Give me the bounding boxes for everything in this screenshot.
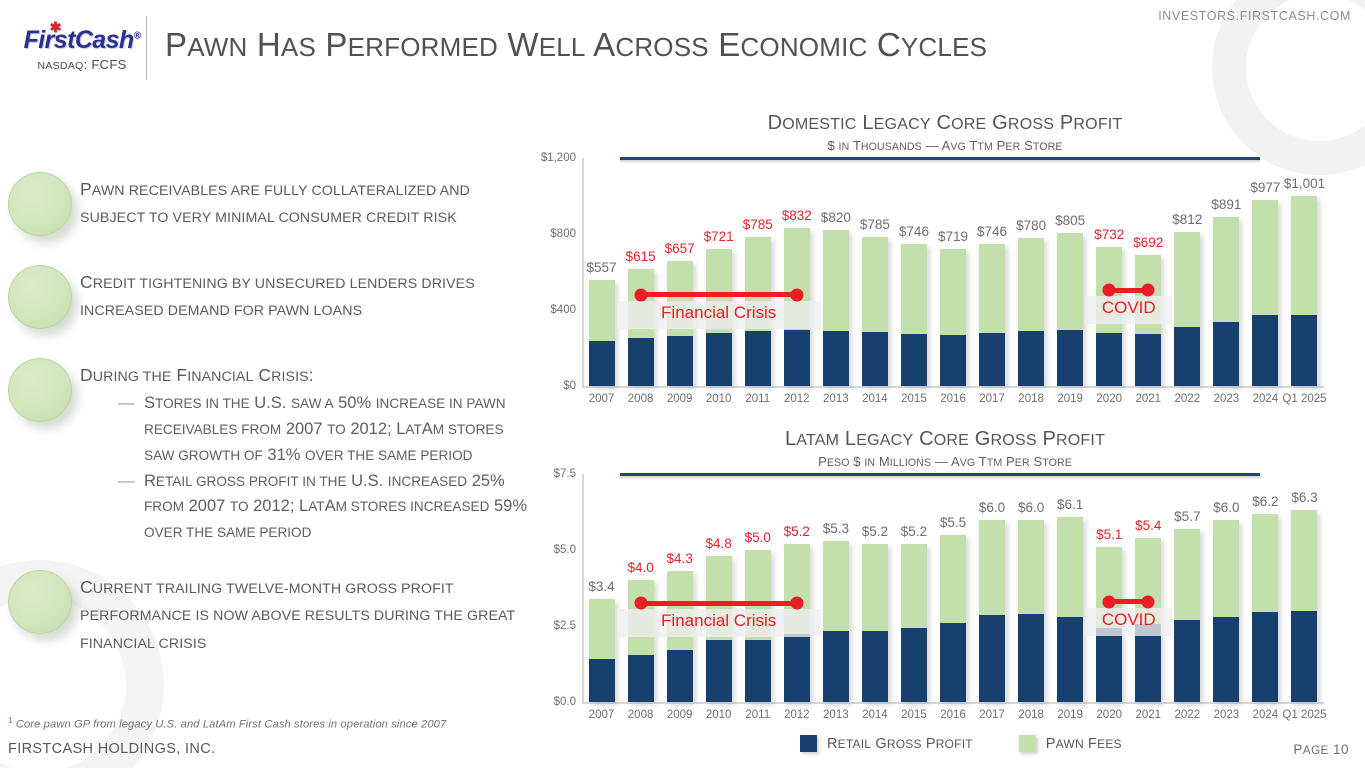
bar-segment-pawn-fees (823, 230, 849, 330)
bar-2017 (979, 520, 1005, 702)
plot-area: $0$400$800$1,200$5572007$6152008$6572009… (530, 158, 1360, 412)
bar-segment-retail-gross-profit (1252, 315, 1278, 386)
investor-url: INVESTORS.FIRSTCASH.COM (1158, 9, 1351, 23)
legend-label-pawn-fees: PAWN FEES (1046, 736, 1122, 752)
bar-segment-pawn-fees (979, 520, 1005, 616)
footnote-text: Core pawn GP from legacy U.S. and LatAm … (16, 719, 447, 731)
bar-value-label: $557 (586, 260, 616, 275)
annotation-line (641, 601, 797, 606)
bar-value-label: $746 (899, 224, 929, 239)
bar-segment-retail-gross-profit (1174, 327, 1200, 386)
bar-2016 (940, 535, 966, 702)
bullet-disc-wrap (0, 558, 80, 656)
key-points-list: PAWN RECEIVABLES ARE FULLY COLLATERALIZE… (0, 160, 530, 678)
bar-segment-retail-gross-profit (589, 341, 615, 386)
bar-segment-retail-gross-profit (823, 631, 849, 702)
dash-icon: — (118, 469, 144, 546)
bar-segment-pawn-fees (901, 244, 927, 334)
bar-2023 (1213, 520, 1239, 702)
bar-value-label: $4.8 (706, 536, 732, 551)
annotation-endpoint-dot (1142, 595, 1155, 608)
green-disc-icon (8, 358, 72, 422)
bar-value-label: $891 (1211, 197, 1241, 212)
bar-segment-retail-gross-profit (784, 634, 810, 701)
bar-value-label: $5.2 (784, 524, 810, 539)
bar-segment-retail-gross-profit (940, 335, 966, 386)
annotation-label: COVID (1102, 298, 1156, 318)
bar-segment-retail-gross-profit (940, 623, 966, 702)
y-axis-tick: $1,200 (456, 152, 576, 164)
green-disc-icon (8, 570, 72, 634)
slide-header: INVESTORS.FIRSTCASH.COM ✱FirstCash® NASD… (0, 0, 1365, 92)
bar-2014 (862, 237, 888, 386)
bar-value-label: $5.1 (1096, 527, 1122, 542)
bar-2019 (1057, 233, 1083, 386)
y-axis-tick: $800 (456, 228, 576, 240)
chart-latam-legacy: LATAM LEGACY CORE GROSS PROFITPESO $ IN … (530, 428, 1360, 720)
annotation-label: Financial Crisis (661, 303, 776, 323)
bar-segment-retail-gross-profit (745, 331, 771, 386)
bar-2018 (1018, 520, 1044, 702)
bar-segment-retail-gross-profit (862, 631, 888, 702)
annotation-endpoint-dot (634, 597, 647, 610)
bar-segment-retail-gross-profit (745, 640, 771, 702)
bar-segment-retail-gross-profit (862, 332, 888, 386)
bullet-item-2: CREDIT TIGHTENING BY UNSECURED LENDERS D… (0, 253, 530, 324)
bullet-item-1: PAWN RECEIVABLES ARE FULLY COLLATERALIZE… (0, 160, 530, 231)
bar-segment-retail-gross-profit (1213, 322, 1239, 386)
x-axis (582, 386, 1324, 388)
bar-value-label: $6.1 (1057, 497, 1083, 512)
bar-segment-retail-gross-profit (628, 338, 654, 386)
bullet-disc-wrap (0, 346, 80, 546)
bar-segment-retail-gross-profit (1291, 315, 1317, 386)
bar-Q1-2025 (1291, 510, 1317, 702)
legend-item-retail-gross-profit: RETAIL GROSS PROFIT (800, 735, 973, 752)
y-axis (582, 158, 584, 386)
footnote: 1 Core pawn GP from legacy U.S. and LatA… (8, 716, 446, 731)
bullet-disc-wrap (0, 253, 80, 324)
annotation-endpoint-dot (634, 288, 647, 301)
y-axis (582, 474, 584, 702)
bullet-item-4: CURRENT TRAILING TWELVE-MONTH GROSS PROF… (0, 558, 530, 656)
bar-value-label: $6.3 (1291, 490, 1317, 505)
bar-segment-retail-gross-profit (667, 336, 693, 386)
bar-segment-pawn-fees (1252, 514, 1278, 613)
bar-value-label: $977 (1250, 180, 1280, 195)
bar-value-label: $5.2 (901, 524, 927, 539)
legend-label-retail-gross-profit: RETAIL GROSS PROFIT (827, 736, 973, 752)
header-divider (146, 16, 147, 80)
bar-2018 (1018, 238, 1044, 386)
bullet-disc-wrap (0, 160, 80, 231)
bar-segment-pawn-fees (1018, 238, 1044, 331)
dash-icon: — (118, 391, 144, 468)
bar-value-label: $805 (1055, 213, 1085, 228)
bar-value-label: $6.2 (1252, 494, 1278, 509)
bar-value-label: $6.0 (1213, 500, 1239, 515)
y-axis-tick: $2.5 (456, 620, 576, 632)
bar-value-label: $692 (1133, 235, 1163, 250)
legend-swatch-green (1019, 735, 1036, 752)
bar-2015 (901, 244, 927, 386)
bar-2022 (1174, 529, 1200, 702)
ticker-label: NASDAQ: FCFS (18, 57, 146, 72)
green-disc-icon (8, 172, 72, 236)
bar-value-label: $732 (1094, 227, 1124, 242)
bar-segment-retail-gross-profit (1018, 331, 1044, 386)
footnote-marker: 1 (8, 716, 13, 725)
bar-2019 (1057, 517, 1083, 702)
sub-bullet-1: — STORES IN THE U.S. SAW A 50% INCREASE … (118, 391, 530, 468)
bar-value-label: $820 (821, 210, 851, 225)
bar-value-label: $615 (626, 249, 656, 264)
bar-segment-retail-gross-profit (784, 330, 810, 386)
y-axis-tick: $5.0 (456, 544, 576, 556)
bar-2017 (979, 244, 1005, 386)
bar-value-label: $5.7 (1174, 509, 1200, 524)
bar-segment-retail-gross-profit (901, 334, 927, 386)
bar-segment-pawn-fees (862, 237, 888, 332)
bar-segment-pawn-fees (901, 544, 927, 628)
bar-value-label: $1,001 (1284, 176, 1325, 191)
chart-title: LATAM LEGACY CORE GROSS PROFIT (530, 428, 1360, 451)
bar-segment-pawn-fees (1174, 529, 1200, 620)
bar-segment-pawn-fees (1174, 232, 1200, 327)
bar-segment-pawn-fees (1291, 510, 1317, 611)
bar-value-label: $4.3 (666, 551, 692, 566)
bar-segment-retail-gross-profit (706, 640, 732, 702)
bar-value-label: $812 (1172, 212, 1202, 227)
x-axis-tick: Q1 2025 (1274, 393, 1334, 405)
bar-value-label: $785 (743, 217, 773, 232)
bar-2024 (1252, 514, 1278, 702)
bar-value-label: $5.4 (1135, 518, 1161, 533)
bar-segment-retail-gross-profit (1291, 611, 1317, 702)
bar-segment-pawn-fees (1291, 196, 1317, 315)
annotation-label: COVID (1102, 610, 1156, 630)
annotation-endpoint-dot (1103, 284, 1116, 297)
bar-segment-retail-gross-profit (1057, 617, 1083, 702)
bar-value-label: $785 (860, 217, 890, 232)
bar-segment-pawn-fees (1057, 517, 1083, 617)
bar-segment-retail-gross-profit (979, 615, 1005, 702)
bar-value-label: $5.5 (940, 515, 966, 530)
bar-segment-retail-gross-profit (1096, 333, 1122, 386)
x-axis (582, 702, 1324, 704)
bar-segment-retail-gross-profit (1174, 620, 1200, 702)
bar-value-label: $5.3 (823, 521, 849, 536)
bar-segment-pawn-fees (589, 280, 615, 341)
bar-2024 (1252, 200, 1278, 386)
legend-item-pawn-fees: PAWN FEES (1019, 735, 1122, 752)
bar-value-label: $721 (704, 229, 734, 244)
y-axis-tick: $0 (456, 380, 576, 392)
bar-segment-pawn-fees (1213, 520, 1239, 617)
green-disc-icon (8, 265, 72, 329)
bar-Q1-2025 (1291, 196, 1317, 386)
bar-segment-retail-gross-profit (589, 659, 615, 702)
bar-segment-retail-gross-profit (901, 628, 927, 702)
y-axis-tick: $0.0 (456, 696, 576, 708)
bar-segment-pawn-fees (1018, 520, 1044, 614)
bar-segment-retail-gross-profit (1135, 334, 1161, 386)
bar-segment-retail-gross-profit (1018, 614, 1044, 702)
bar-segment-pawn-fees (589, 599, 615, 660)
bar-2007 (589, 280, 615, 386)
bar-segment-retail-gross-profit (1252, 612, 1278, 702)
annotation-line (641, 292, 797, 297)
legend-swatch-navy (800, 735, 817, 752)
bar-value-label: $780 (1016, 218, 1046, 233)
bar-segment-retail-gross-profit (823, 331, 849, 386)
chart-subtitle: $ IN THOUSANDS — AVG TTM PER STORE (530, 138, 1360, 153)
bar-segment-retail-gross-profit (628, 655, 654, 702)
chart-domestic-legacy: DOMESTIC LEGACY CORE GROSS PROFIT$ IN TH… (530, 112, 1360, 402)
bar-2013 (823, 541, 849, 702)
bar-2014 (862, 544, 888, 702)
annotation-label: Financial Crisis (661, 611, 776, 631)
y-axis-tick: $400 (456, 304, 576, 316)
annotation-endpoint-dot (790, 288, 803, 301)
bar-value-label: $5.2 (862, 524, 888, 539)
bar-2013 (823, 230, 849, 386)
annotation-endpoint-dot (1103, 595, 1116, 608)
y-axis-tick: $7.5 (456, 468, 576, 480)
page-number: PAGE 10 (1293, 742, 1349, 757)
company-name: FIRSTCASH HOLDINGS, INC. (8, 741, 215, 757)
bar-value-label: $6.0 (1018, 500, 1044, 515)
bar-2007 (589, 599, 615, 702)
annotation-endpoint-dot (790, 597, 803, 610)
bar-segment-pawn-fees (979, 244, 1005, 333)
bar-value-label: $719 (938, 229, 968, 244)
bar-segment-pawn-fees (1213, 217, 1239, 323)
bullet-text-4: CURRENT TRAILING TWELVE-MONTH GROSS PROF… (80, 558, 530, 656)
bar-segment-retail-gross-profit (1057, 330, 1083, 386)
logo-wordmark: ✱FirstCash® (24, 26, 141, 55)
bar-segment-retail-gross-profit (979, 333, 1005, 386)
bullet-text-1: PAWN RECEIVABLES ARE FULLY COLLATERALIZE… (80, 160, 530, 231)
chart-subtitle: PESO $ IN MILLIONS — AVG TTM PER STORE (530, 454, 1360, 469)
bar-value-label: $746 (977, 224, 1007, 239)
chart-legend: RETAIL GROSS PROFIT PAWN FEES (800, 735, 1168, 752)
slide: INVESTORS.FIRSTCASH.COM ✱FirstCash® NASD… (0, 0, 1365, 768)
bar-value-label: $832 (782, 208, 812, 223)
bar-value-label: $657 (665, 241, 695, 256)
bar-2022 (1174, 232, 1200, 386)
sub-bullet-text-2: RETAIL GROSS PROFIT IN THE U.S. INCREASE… (144, 469, 530, 546)
bar-segment-retail-gross-profit (1135, 624, 1161, 702)
bar-value-label: $4.0 (627, 560, 653, 575)
registered-icon: ® (134, 31, 141, 42)
bar-segment-pawn-fees (940, 535, 966, 623)
sub-bullet-text-1: STORES IN THE U.S. SAW A 50% INCREASE IN… (144, 391, 530, 468)
logo-text: FirstCash (24, 26, 134, 54)
bar-value-label: $3.4 (588, 579, 614, 594)
bar-segment-pawn-fees (823, 541, 849, 631)
annotation-endpoint-dot (1142, 284, 1155, 297)
bar-segment-retail-gross-profit (667, 650, 693, 702)
chart-title: DOMESTIC LEGACY CORE GROSS PROFIT (530, 112, 1360, 135)
bar-2015 (901, 544, 927, 702)
bar-segment-retail-gross-profit (1096, 628, 1122, 702)
bar-segment-pawn-fees (862, 544, 888, 631)
bar-segment-retail-gross-profit (1213, 617, 1239, 702)
x-axis-tick: Q1 2025 (1274, 709, 1334, 721)
plot-area: $0.0$2.5$5.0$7.5$3.42007$4.02008$4.32009… (530, 474, 1360, 728)
star-icon: ✱ (50, 19, 61, 36)
bar-value-label: $6.0 (979, 500, 1005, 515)
bar-2016 (940, 249, 966, 386)
bullet-item-3: DURING THE FINANCIAL CRISIS: — STORES IN… (0, 346, 530, 546)
bar-2023 (1213, 217, 1239, 386)
bar-segment-pawn-fees (1057, 233, 1083, 330)
firstcash-logo: ✱FirstCash® NASDAQ: FCFS (18, 26, 146, 72)
sub-bullet-2: — RETAIL GROSS PROFIT IN THE U.S. INCREA… (118, 469, 530, 546)
page-title: PAWN HAS PERFORMED WELL ACROSS ECONOMIC … (165, 26, 987, 64)
bar-segment-pawn-fees (1252, 200, 1278, 315)
bar-value-label: $5.0 (745, 530, 771, 545)
bar-segment-pawn-fees (940, 249, 966, 335)
bar-segment-retail-gross-profit (706, 333, 732, 386)
